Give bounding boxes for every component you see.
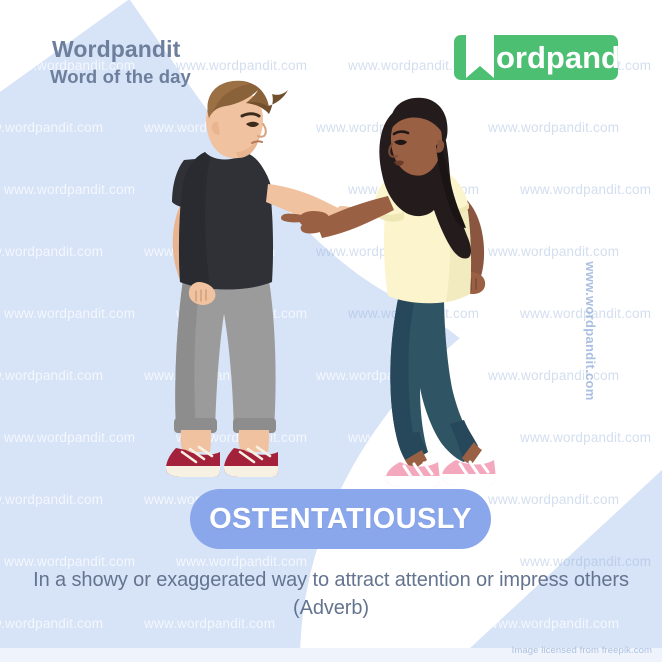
man-left-shoe xyxy=(166,447,220,477)
man-character xyxy=(166,81,364,477)
word-badge[interactable]: OSTENTATIOUSLY xyxy=(190,489,491,549)
word-label: OSTENTATIOUSLY xyxy=(209,503,472,536)
logo-text: ordpandit xyxy=(496,40,620,75)
illustration-arguing-couple xyxy=(0,0,662,662)
man-right-shoe xyxy=(224,447,278,477)
page-subtitle: Word of the day xyxy=(50,65,191,88)
page-title: Wordpandit xyxy=(52,36,191,63)
word-of-the-day-card: www.wordpandit.comwww.wordpandit.comwww.… xyxy=(0,0,662,662)
header: Wordpandit Word of the day xyxy=(52,36,191,88)
definition-line-1: In a showy or exaggerated way to attract… xyxy=(33,569,568,591)
wordpandit-logo[interactable]: ordpandit xyxy=(452,30,620,84)
woman-character xyxy=(281,98,496,487)
woman-right-shoe xyxy=(442,460,496,485)
image-credit: Image licensed from freepik.com xyxy=(512,645,652,656)
word-definition: In a showy or exaggerated way to attract… xyxy=(20,566,642,623)
